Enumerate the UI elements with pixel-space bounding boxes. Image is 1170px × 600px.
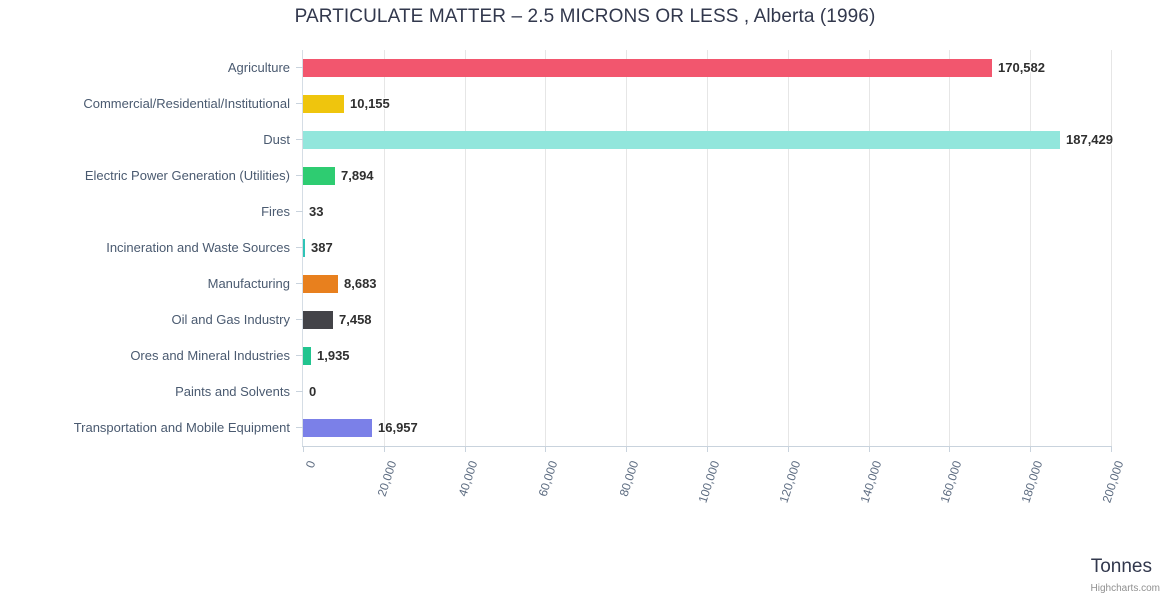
x-tick-label: 140,000	[843, 459, 884, 549]
category-label: Manufacturing	[0, 266, 290, 302]
bar[interactable]	[303, 167, 335, 185]
x-tick-mark	[1111, 446, 1112, 452]
bar[interactable]	[303, 131, 1060, 149]
x-tick-mark	[1030, 446, 1031, 452]
x-tick-label: 60,000	[519, 459, 560, 549]
x-tick-mark	[545, 446, 546, 452]
x-tick-label: 120,000	[762, 459, 803, 549]
category-tick	[296, 139, 303, 140]
x-axis-title: Tonnes	[1091, 556, 1152, 578]
category-label: Oil and Gas Industry	[0, 302, 290, 338]
category-tick	[296, 67, 303, 68]
bar[interactable]	[303, 275, 338, 293]
bar[interactable]	[303, 311, 333, 329]
x-tick-mark	[869, 446, 870, 452]
category-label: Agriculture	[0, 50, 290, 86]
bar[interactable]	[303, 347, 311, 365]
x-tick-mark	[788, 446, 789, 452]
x-tick-mark	[384, 446, 385, 452]
x-tick-mark	[707, 446, 708, 452]
bar-row[interactable]: Electric Power Generation (Utilities)7,8…	[0, 158, 1170, 194]
bar-value-label: 387	[311, 239, 333, 257]
x-tick-label: 40,000	[439, 459, 480, 549]
bar-row[interactable]: Paints and Solvents0	[0, 374, 1170, 410]
category-label: Transportation and Mobile Equipment	[0, 410, 290, 446]
bar-value-label: 187,429	[1066, 131, 1113, 149]
category-label: Electric Power Generation (Utilities)	[0, 158, 290, 194]
x-tick-mark	[949, 446, 950, 452]
category-label: Fires	[0, 194, 290, 230]
x-tick-label: 80,000	[600, 459, 641, 549]
x-tick-label: 200,000	[1085, 459, 1126, 549]
category-tick	[296, 175, 303, 176]
category-tick	[296, 103, 303, 104]
x-tick-mark	[626, 446, 627, 452]
x-tick-label: 0	[277, 459, 318, 549]
bar-value-label: 8,683	[344, 275, 377, 293]
category-tick	[296, 247, 303, 248]
bar-value-label: 7,894	[341, 167, 374, 185]
bar-value-label: 10,155	[350, 95, 390, 113]
x-tick-mark	[465, 446, 466, 452]
category-label: Paints and Solvents	[0, 374, 290, 410]
x-tick-label: 180,000	[1004, 459, 1045, 549]
bar-row[interactable]: Manufacturing8,683	[0, 266, 1170, 302]
bar-row[interactable]: Commercial/Residential/Institutional10,1…	[0, 86, 1170, 122]
bar-value-label: 7,458	[339, 311, 372, 329]
x-tick-label: 20,000	[358, 459, 399, 549]
bar-value-label: 0	[309, 383, 316, 401]
chart-title: PARTICULATE MATTER – 2.5 MICRONS OR LESS…	[0, 6, 1170, 28]
bar[interactable]	[303, 59, 992, 77]
highcharts-credits: Highcharts.com	[1091, 583, 1160, 594]
bar[interactable]	[303, 239, 305, 257]
bar-row[interactable]: Dust187,429	[0, 122, 1170, 158]
bar[interactable]	[303, 95, 344, 113]
category-tick	[296, 319, 303, 320]
x-tick-label: 160,000	[923, 459, 964, 549]
bar-row[interactable]: Incineration and Waste Sources387	[0, 230, 1170, 266]
category-label: Ores and Mineral Industries	[0, 338, 290, 374]
bar-value-label: 170,582	[998, 59, 1045, 77]
chart-container: PARTICULATE MATTER – 2.5 MICRONS OR LESS…	[0, 0, 1170, 600]
x-tick-label: 100,000	[681, 459, 722, 549]
bar-row[interactable]: Transportation and Mobile Equipment16,95…	[0, 410, 1170, 446]
bar-value-label: 16,957	[378, 419, 418, 437]
bar-value-label: 1,935	[317, 347, 350, 365]
bar-row[interactable]: Ores and Mineral Industries1,935	[0, 338, 1170, 374]
category-tick	[296, 391, 303, 392]
category-tick	[296, 427, 303, 428]
category-label: Dust	[0, 122, 290, 158]
category-tick	[296, 355, 303, 356]
bar[interactable]	[303, 419, 372, 437]
bar-row[interactable]: Fires33	[0, 194, 1170, 230]
bar-row[interactable]: Agriculture170,582	[0, 50, 1170, 86]
x-tick-mark	[303, 446, 304, 452]
category-tick	[296, 211, 303, 212]
category-label: Incineration and Waste Sources	[0, 230, 290, 266]
bar-value-label: 33	[309, 203, 323, 221]
bar-row[interactable]: Oil and Gas Industry7,458	[0, 302, 1170, 338]
category-tick	[296, 283, 303, 284]
category-label: Commercial/Residential/Institutional	[0, 86, 290, 122]
